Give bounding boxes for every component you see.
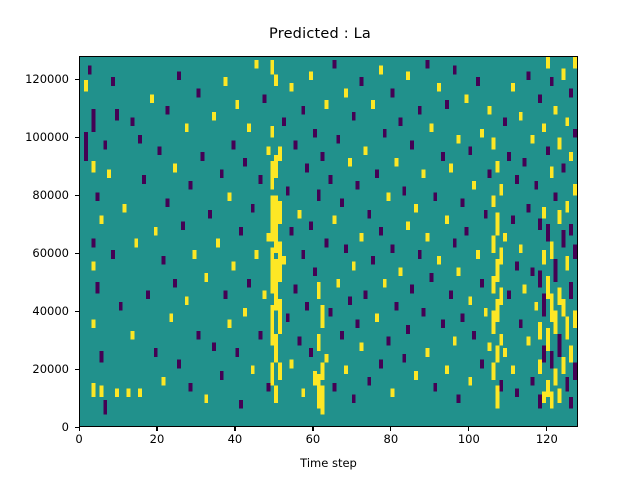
y-tick-label: 120000 <box>25 72 69 86</box>
y-tick-label: 100000 <box>25 130 69 144</box>
x-tick-mark <box>234 427 235 431</box>
x-tick-mark <box>156 427 157 431</box>
heatmap-plot-area[interactable] <box>79 56 578 427</box>
x-tick-label: 120 <box>517 432 577 446</box>
x-tick-mark <box>79 427 80 431</box>
x-tick-label: 0 <box>49 432 109 446</box>
x-tick-label: 20 <box>127 432 187 446</box>
x-tick-label: 80 <box>361 432 421 446</box>
x-tick-mark <box>390 427 391 431</box>
y-tick-label: 40000 <box>32 304 69 318</box>
page-title: Predicted : La <box>0 26 640 42</box>
x-tick-label: 40 <box>205 432 265 446</box>
y-tick-label: 20000 <box>32 362 69 376</box>
x-axis-label: Time step <box>79 456 578 470</box>
x-tick-mark <box>546 427 547 431</box>
y-tick-label: 80000 <box>32 188 69 202</box>
x-tick-mark <box>468 427 469 431</box>
x-tick-mark <box>312 427 313 431</box>
heatmap-image <box>80 57 577 426</box>
x-tick-label: 60 <box>283 432 343 446</box>
y-tick-label: 60000 <box>32 246 69 260</box>
matplotlib-figure: Predicted : La Frequency (Hz) 0200004000… <box>0 0 640 480</box>
x-tick-label: 100 <box>439 432 499 446</box>
